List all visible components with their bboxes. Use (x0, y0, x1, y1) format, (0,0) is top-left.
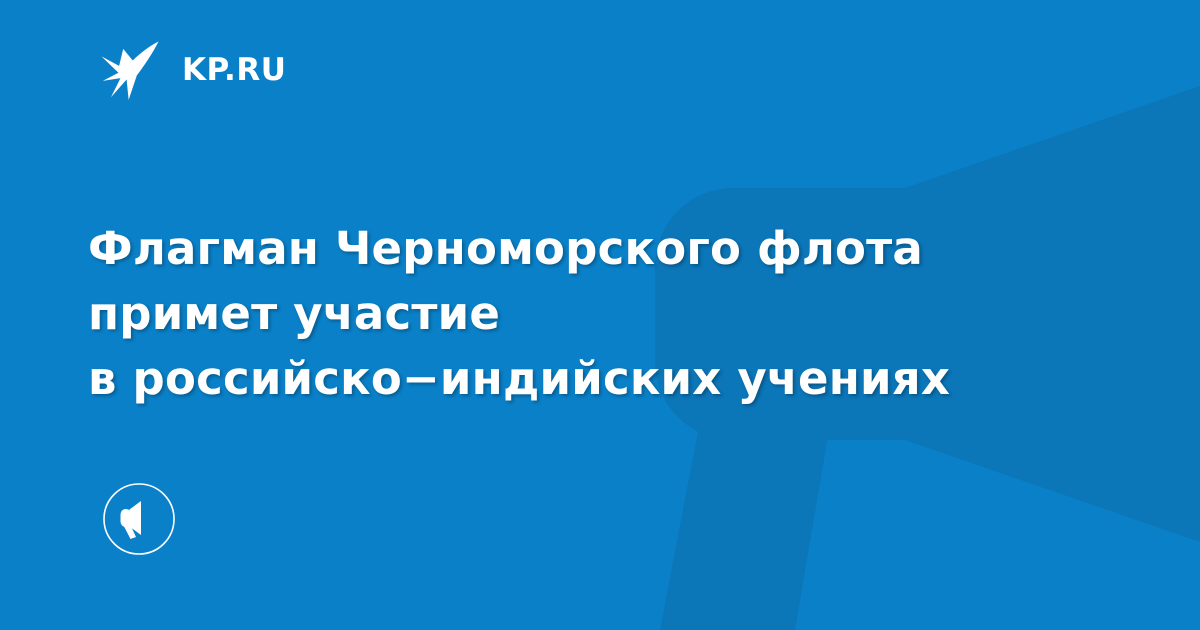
headline-line-3: в российско−индийских учениях (88, 346, 1108, 411)
brand-logo[interactable]: KP.RU (96, 34, 286, 106)
megaphone-icon (102, 482, 176, 556)
headline-line-1: Флагман Черноморского флота (88, 216, 1108, 281)
brand-wordmark: KP.RU (182, 55, 286, 86)
share-card: KP.RU Флагман Черноморского флота примет… (0, 0, 1200, 630)
headline-line-2: примет участие (88, 281, 1108, 346)
swallow-bird-icon (96, 36, 164, 104)
megaphone-badge[interactable] (102, 482, 176, 556)
headline: Флагман Черноморского флота примет участ… (88, 216, 1108, 411)
